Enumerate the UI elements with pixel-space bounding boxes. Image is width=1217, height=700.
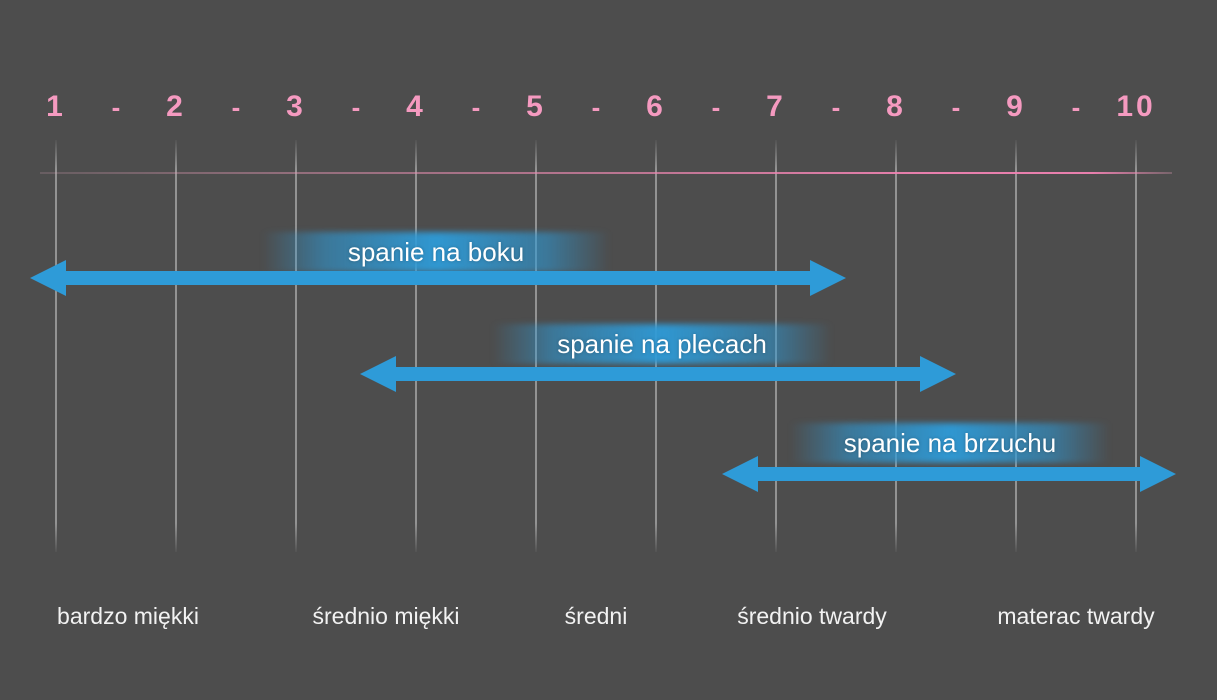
scale-separator-9: - (1072, 84, 1081, 130)
scale-separator-4: - (472, 84, 481, 130)
firmness-scale-chart: 1-2-3-4-5-6-7-8-9-10 spanie na boku span… (0, 0, 1217, 700)
arrow-label-2: spanie na plecach (492, 327, 832, 361)
scale-separator-8: - (952, 84, 961, 130)
scale-number-2: 2 (166, 84, 186, 130)
scale-number-5: 5 (526, 84, 546, 130)
firmness-label-row: bardzo miękkiśrednio miękkiśredniśrednio… (0, 596, 1217, 636)
firmness-label-0: bardzo miękki (57, 596, 199, 636)
scale-separator-5: - (592, 84, 601, 130)
pink-baseline-rule (40, 172, 1172, 174)
scale-number-6: 6 (646, 84, 666, 130)
scale-separator-1: - (112, 84, 121, 130)
range-arrow-spanie-na-boku: spanie na boku (0, 232, 1217, 304)
scale-separator-3: - (352, 84, 361, 130)
firmness-label-2: średni (565, 596, 628, 636)
firmness-label-4: materac twardy (997, 596, 1154, 636)
scale-number-10: 10 (1116, 84, 1155, 130)
arrow-label-3: spanie na brzuchu (790, 426, 1110, 460)
scale-separator-7: - (832, 84, 841, 130)
scale-number-4: 4 (406, 84, 426, 130)
range-arrow-spanie-na-brzuchu: spanie na brzuchu (0, 423, 1217, 495)
arrow-label-1: spanie na boku (262, 235, 610, 269)
scale-separator-2: - (232, 84, 241, 130)
range-arrow-spanie-na-plecach: spanie na plecach (0, 324, 1217, 396)
firmness-label-1: średnio miękki (313, 596, 460, 636)
scale-number-7: 7 (766, 84, 786, 130)
scale-number-3: 3 (286, 84, 306, 130)
scale-separator-6: - (712, 84, 721, 130)
firmness-label-3: średnio twardy (737, 596, 887, 636)
scale-number-1: 1 (46, 84, 66, 130)
scale-number-9: 9 (1006, 84, 1026, 130)
scale-number-8: 8 (886, 84, 906, 130)
scale-number-row: 1-2-3-4-5-6-7-8-9-10 (0, 84, 1217, 130)
